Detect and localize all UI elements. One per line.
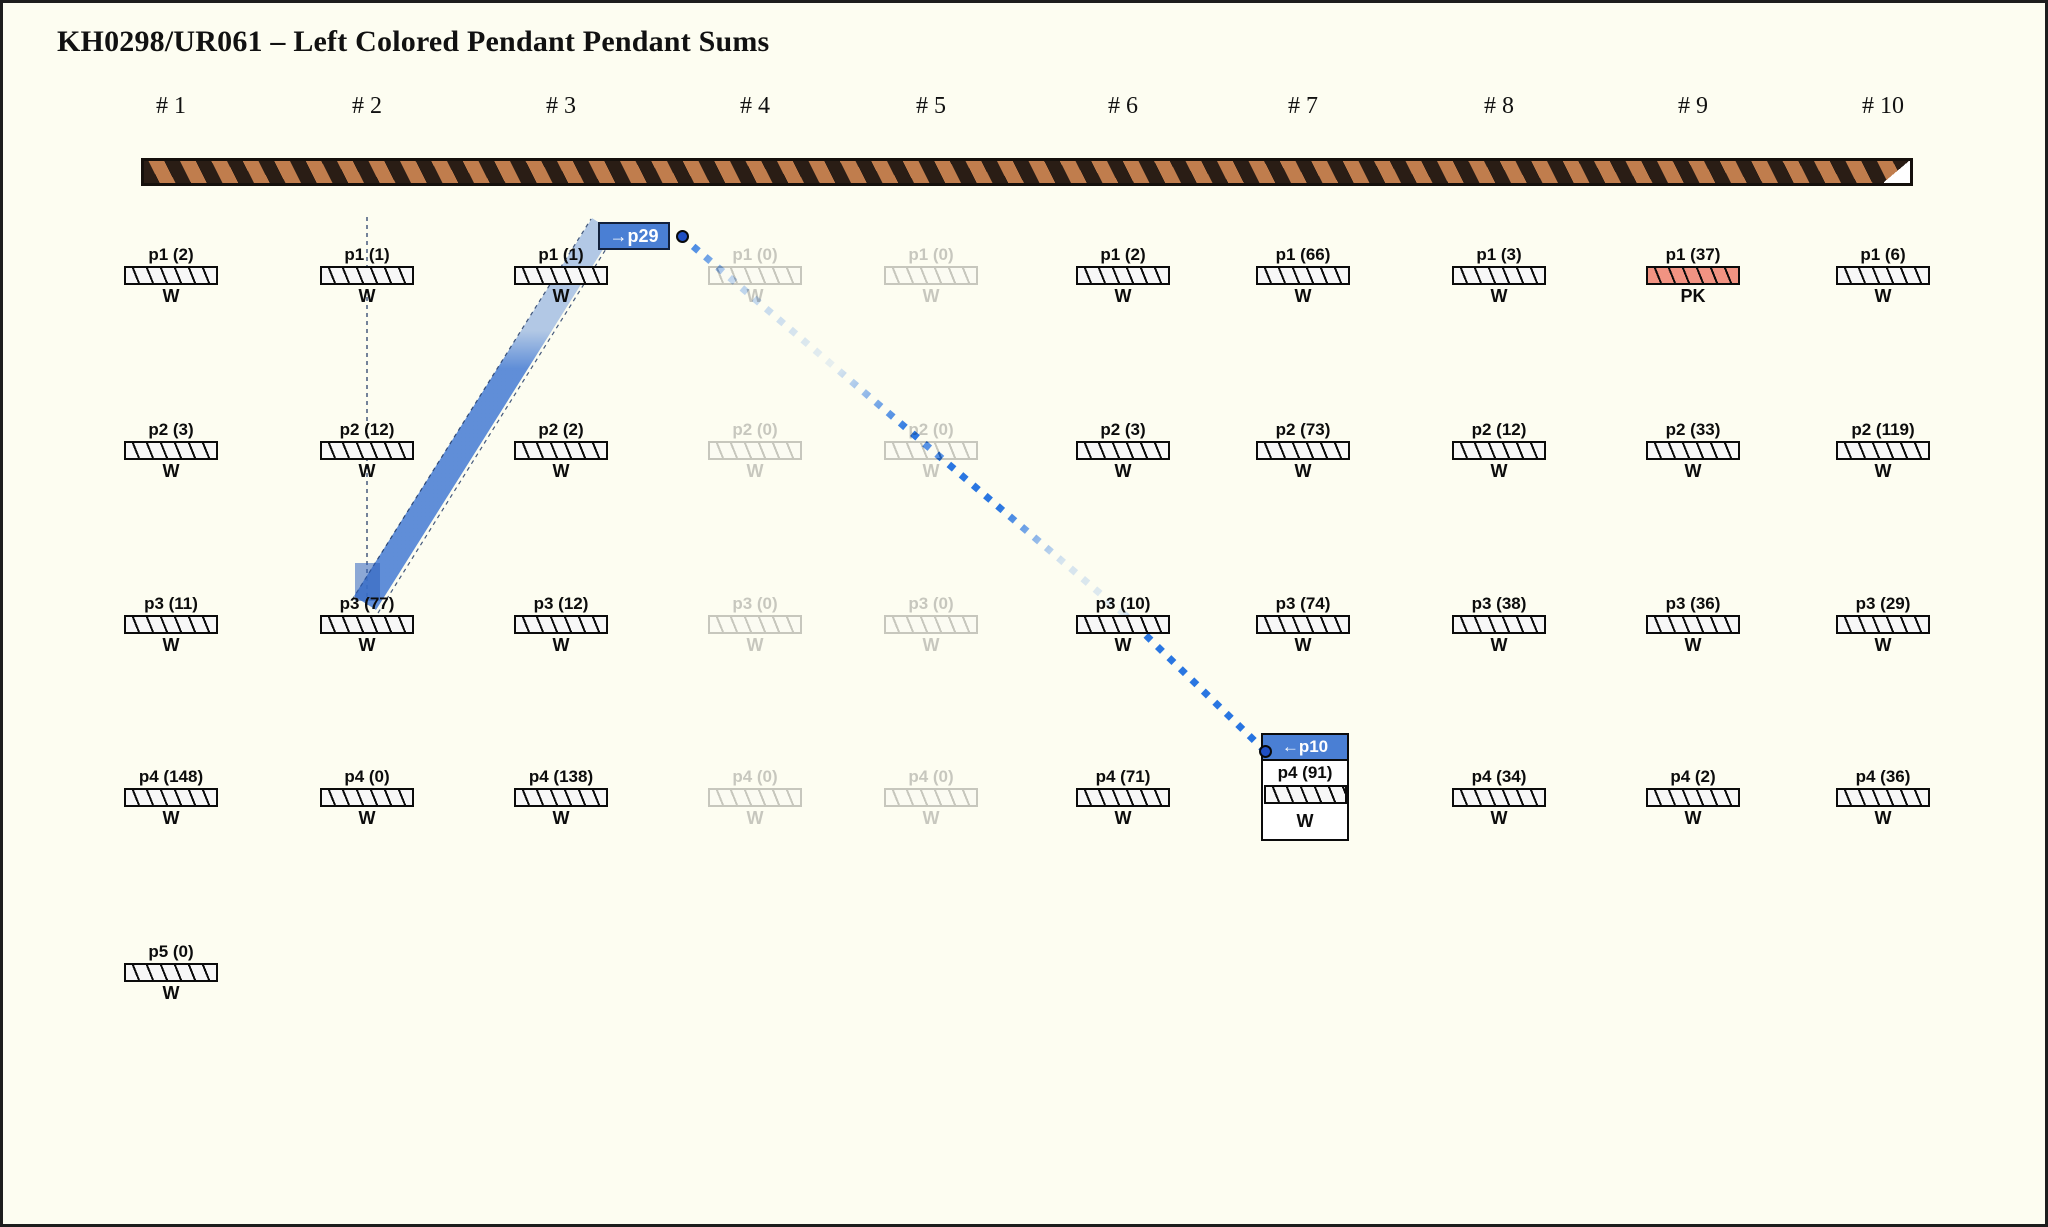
pendant-color-code: W xyxy=(1618,461,1768,481)
pendant-label: p3 (12) xyxy=(486,595,636,613)
pendant-cell[interactable]: p4 (0)W xyxy=(856,768,1006,828)
knot-bar xyxy=(124,615,218,634)
pendant-cell[interactable]: p4 (2)W xyxy=(1618,768,1768,828)
pendant-label: p2 (2) xyxy=(486,421,636,439)
pendant-color-code: W xyxy=(1228,635,1378,655)
pendant-color-code: W xyxy=(1424,461,1574,481)
pendant-color-code: W xyxy=(96,635,246,655)
pendant-label: p2 (0) xyxy=(856,421,1006,439)
pendant-cell[interactable]: p3 (12)W xyxy=(486,595,636,655)
knot-bar xyxy=(1836,441,1930,460)
column-header-10: # 10 xyxy=(1813,93,1953,120)
pendant-label: p3 (0) xyxy=(680,595,830,613)
pendant-label: p4 (138) xyxy=(486,768,636,786)
pendant-color-code: W xyxy=(680,286,830,306)
pendant-color-code: W xyxy=(1808,635,1958,655)
pendant-color-code: PK xyxy=(1618,286,1768,306)
pendant-cell[interactable]: p2 (2)W xyxy=(486,421,636,481)
pendant-color-code: W xyxy=(856,808,1006,828)
pendant-label: p3 (74) xyxy=(1228,595,1378,613)
pendant-cell[interactable]: p2 (33)W xyxy=(1618,421,1768,481)
pendant-color-code: W xyxy=(96,461,246,481)
source-tag-p29[interactable]: →p29 xyxy=(598,222,670,250)
pendant-label: p1 (0) xyxy=(680,246,830,264)
column-header-9: # 9 xyxy=(1623,93,1763,120)
pendant-label: p2 (12) xyxy=(292,421,442,439)
pendant-label: p4 (148) xyxy=(96,768,246,786)
pendant-label: p3 (0) xyxy=(856,595,1006,613)
knot-bar xyxy=(1646,266,1740,285)
knot-bar xyxy=(1836,615,1930,634)
pendant-color-code: W xyxy=(486,635,636,655)
pendant-label: p5 (0) xyxy=(96,943,246,961)
pendant-cell[interactable]: p1 (1)W xyxy=(292,246,442,306)
knot-bar xyxy=(320,615,414,634)
pendant-color-code: W xyxy=(1808,286,1958,306)
cord-end-cap xyxy=(1884,161,1910,183)
pendant-color-code: W xyxy=(1228,286,1378,306)
knot-bar xyxy=(514,615,608,634)
pendant-cell[interactable]: p1 (0)W xyxy=(680,246,830,306)
knot-bar xyxy=(1256,441,1350,460)
knot-bar xyxy=(320,788,414,807)
knot-bar xyxy=(1076,266,1170,285)
knot-bar xyxy=(708,615,802,634)
pendant-label: p3 (36) xyxy=(1618,595,1768,613)
pendant-cell[interactable]: p2 (73)W xyxy=(1228,421,1378,481)
pendant-color-code: W xyxy=(292,635,442,655)
pendant-color-code: W xyxy=(680,461,830,481)
knot-bar xyxy=(320,266,414,285)
pendant-cell[interactable]: p1 (2)W xyxy=(1048,246,1198,306)
pendant-label: p2 (119) xyxy=(1808,421,1958,439)
pendant-cell[interactable]: p2 (3)W xyxy=(1048,421,1198,481)
pendant-cell[interactable]: p5 (0)W xyxy=(96,943,246,1003)
knot-bar xyxy=(1836,266,1930,285)
pendant-label: p1 (3) xyxy=(1424,246,1574,264)
pendant-label: p4 (34) xyxy=(1424,768,1574,786)
pendant-label: p3 (77) xyxy=(292,595,442,613)
pendant-cell[interactable]: p3 (38)W xyxy=(1424,595,1574,655)
knot-bar xyxy=(884,441,978,460)
pendant-cell[interactable]: p4 (148)W xyxy=(96,768,246,828)
pendant-color-code: W xyxy=(680,808,830,828)
pendant-color-code: W xyxy=(856,635,1006,655)
pendant-label: p4 (71) xyxy=(1048,768,1198,786)
column-header-5: # 5 xyxy=(861,93,1001,120)
pendant-cell[interactable]: p3 (0)W xyxy=(680,595,830,655)
pendant-label: p4 (36) xyxy=(1808,768,1958,786)
pendant-label: p3 (10) xyxy=(1048,595,1198,613)
knot-bar xyxy=(1452,615,1546,634)
knot-bar xyxy=(124,963,218,982)
knot-bar xyxy=(1646,788,1740,807)
pendant-cell[interactable]: p2 (0)W xyxy=(680,421,830,481)
knot-bar xyxy=(708,788,802,807)
knot-bar xyxy=(320,441,414,460)
source-node-dot[interactable] xyxy=(676,230,689,243)
pendant-label: p4 (0) xyxy=(856,768,1006,786)
pendant-cell[interactable]: p1 (0)W xyxy=(856,246,1006,306)
pendant-cell[interactable]: p1 (3)W xyxy=(1424,246,1574,306)
pendant-label: p1 (66) xyxy=(1228,246,1378,264)
knot-bar xyxy=(1256,615,1350,634)
column-header-8: # 8 xyxy=(1429,93,1569,120)
pendant-color-code: W xyxy=(292,808,442,828)
column-header-7: # 7 xyxy=(1233,93,1373,120)
pendant-label: p2 (3) xyxy=(1048,421,1198,439)
target-pendant-label: p4 (91) xyxy=(1263,761,1347,784)
knot-bar xyxy=(1256,266,1350,285)
pendant-label: p1 (37) xyxy=(1618,246,1768,264)
primary-cord xyxy=(141,158,1913,186)
knot-bar xyxy=(514,441,608,460)
knot-bar xyxy=(708,441,802,460)
knot-bar xyxy=(708,266,802,285)
pendant-color-code: W xyxy=(1424,286,1574,306)
knot-bar xyxy=(1076,441,1170,460)
pendant-color-code: W xyxy=(1618,808,1768,828)
pendant-cell[interactable]: p4 (71)W xyxy=(1048,768,1198,828)
column-header-1: # 1 xyxy=(101,93,241,120)
pendant-cell[interactable]: p4 (138)W xyxy=(486,768,636,828)
pendant-label: p1 (0) xyxy=(856,246,1006,264)
knot-bar xyxy=(1452,441,1546,460)
pendant-cell[interactable]: p2 (3)W xyxy=(96,421,246,481)
column-header-4: # 4 xyxy=(685,93,825,120)
pendant-color-code: W xyxy=(1048,286,1198,306)
column-header-3: # 3 xyxy=(491,93,631,120)
knot-bar xyxy=(884,266,978,285)
pendant-cell[interactable]: p3 (29)W xyxy=(1808,595,1958,655)
pendant-cell[interactable]: p4 (36)W xyxy=(1808,768,1958,828)
target-pendant-card-p10[interactable]: ←p10 p4 (91) W xyxy=(1261,733,1349,841)
pendant-cell[interactable]: p2 (12)W xyxy=(292,421,442,481)
pendant-cell[interactable]: p1 (2)W xyxy=(96,246,246,306)
pendant-cell[interactable]: p4 (0)W xyxy=(680,768,830,828)
knot-bar xyxy=(124,441,218,460)
pendant-cell[interactable]: p3 (11)W xyxy=(96,595,246,655)
knot-bar xyxy=(884,615,978,634)
pendant-label: p4 (2) xyxy=(1618,768,1768,786)
pendant-color-code: W xyxy=(486,461,636,481)
pendant-cell[interactable]: p1 (66)W xyxy=(1228,246,1378,306)
khipu-diagram-canvas: KH0298/UR061 – Left Colored Pendant Pend… xyxy=(0,0,2048,1227)
pendant-label: p1 (2) xyxy=(96,246,246,264)
pendant-label: p1 (2) xyxy=(1048,246,1198,264)
pendant-color-code: W xyxy=(1048,808,1198,828)
page-title: KH0298/UR061 – Left Colored Pendant Pend… xyxy=(57,25,769,59)
pendant-color-code: W xyxy=(680,635,830,655)
pendant-label: p2 (0) xyxy=(680,421,830,439)
knot-bar xyxy=(124,788,218,807)
pendant-cell[interactable]: p1 (37)PK xyxy=(1618,246,1768,306)
pendant-color-code: W xyxy=(1048,461,1198,481)
pendant-color-code: W xyxy=(856,461,1006,481)
pendant-cell[interactable]: p2 (119)W xyxy=(1808,421,1958,481)
pendant-label: p1 (6) xyxy=(1808,246,1958,264)
pendant-label: p4 (0) xyxy=(292,768,442,786)
knot-bar xyxy=(514,788,608,807)
knot-bar xyxy=(124,266,218,285)
pendant-cell[interactable]: p4 (0)W xyxy=(292,768,442,828)
pendant-color-code: W xyxy=(292,286,442,306)
column-header-2: # 2 xyxy=(297,93,437,120)
pendant-label: p2 (33) xyxy=(1618,421,1768,439)
pendant-color-code: W xyxy=(1424,635,1574,655)
pendant-color-code: W xyxy=(1424,808,1574,828)
pendant-label: p2 (3) xyxy=(96,421,246,439)
target-knot-bar xyxy=(1264,785,1347,804)
knot-bar xyxy=(1646,441,1740,460)
knot-bar xyxy=(514,266,608,285)
pendant-cell[interactable]: p2 (12)W xyxy=(1424,421,1574,481)
pendant-cell[interactable]: p3 (0)W xyxy=(856,595,1006,655)
target-pendant-color: W xyxy=(1263,806,1347,839)
pendant-cell[interactable]: p3 (10)W xyxy=(1048,595,1198,655)
pendant-label: p3 (29) xyxy=(1808,595,1958,613)
pendant-color-code: W xyxy=(1048,635,1198,655)
pendant-label: p4 (0) xyxy=(680,768,830,786)
pendant-color-code: W xyxy=(1228,461,1378,481)
pendant-color-code: W xyxy=(1808,461,1958,481)
pendant-label: p3 (38) xyxy=(1424,595,1574,613)
knot-bar xyxy=(1836,788,1930,807)
pendant-color-code: W xyxy=(96,808,246,828)
pendant-cell[interactable]: p1 (1)W xyxy=(486,246,636,306)
column-header-6: # 6 xyxy=(1053,93,1193,120)
pendant-color-code: W xyxy=(856,286,1006,306)
target-tag-p10[interactable]: ←p10 xyxy=(1263,735,1347,761)
pendant-color-code: W xyxy=(1808,808,1958,828)
pendant-color-code: W xyxy=(292,461,442,481)
pendant-color-code: W xyxy=(96,983,246,1003)
pendant-cell[interactable]: p4 (34)W xyxy=(1424,768,1574,828)
pendant-color-code: W xyxy=(1618,635,1768,655)
pendant-cell[interactable]: p2 (0)W xyxy=(856,421,1006,481)
pendant-label: p2 (12) xyxy=(1424,421,1574,439)
knot-bar xyxy=(884,788,978,807)
pendant-color-code: W xyxy=(96,286,246,306)
pendant-color-code: W xyxy=(486,286,636,306)
pendant-cell[interactable]: p1 (6)W xyxy=(1808,246,1958,306)
pendant-label: p1 (1) xyxy=(292,246,442,264)
pendant-cell[interactable]: p3 (77)W xyxy=(292,595,442,655)
pendant-color-code: W xyxy=(486,808,636,828)
knot-bar xyxy=(1452,266,1546,285)
knot-bar xyxy=(1076,615,1170,634)
pendant-label: p2 (73) xyxy=(1228,421,1378,439)
target-node-dot[interactable] xyxy=(1259,745,1272,758)
knot-bar xyxy=(1646,615,1740,634)
pendant-label: p3 (11) xyxy=(96,595,246,613)
knot-bar xyxy=(1076,788,1170,807)
knot-bar xyxy=(1452,788,1546,807)
pendant-cell[interactable]: p3 (74)W xyxy=(1228,595,1378,655)
pendant-cell[interactable]: p3 (36)W xyxy=(1618,595,1768,655)
